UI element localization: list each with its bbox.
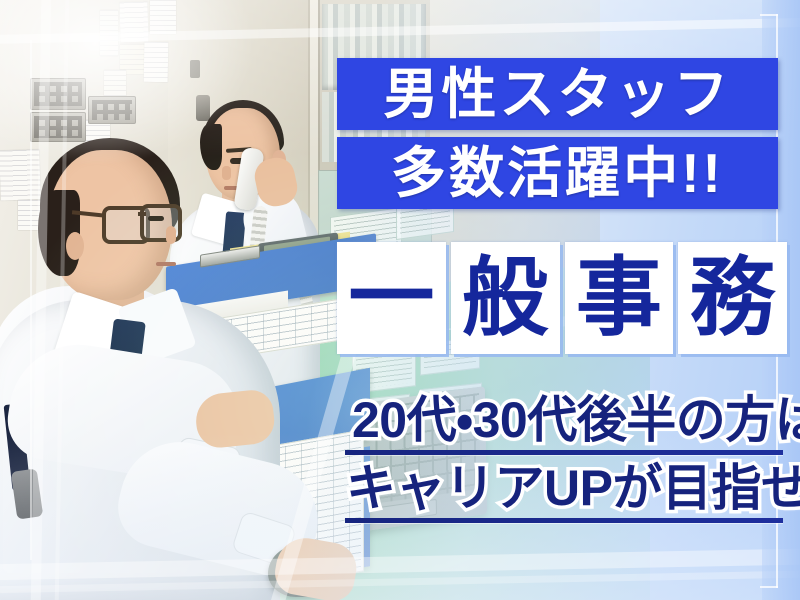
headline-kanji-box: 事	[565, 242, 674, 354]
recruitment-banner: 男性スタッフ 多数活躍中!! 一 般 事 務 20代・30代後半の方は キャリア…	[0, 0, 800, 600]
subline-bottom-rule	[345, 518, 783, 523]
ribbon-male-staff: 男性スタッフ	[337, 58, 778, 130]
headline-kanji-char: 事	[576, 255, 662, 341]
subline-age-range: 20代・30代後半の方は	[352, 390, 792, 450]
headline-kanji-box: 一	[337, 242, 446, 354]
subline-career-up: キャリアUPが目指せます	[346, 458, 794, 518]
headline-kanji-row: 一 般 事 務	[337, 242, 787, 354]
headline-kanji-char: 務	[690, 255, 776, 341]
headline-kanji-char: 般	[462, 255, 548, 341]
headline-kanji-char: 一	[348, 255, 434, 341]
frame-border-line-left	[30, 40, 32, 560]
ribbon-male-staff-label: 男性スタッフ	[383, 67, 731, 122]
frame-border-line	[760, 586, 778, 588]
subline-divider-rule	[345, 450, 783, 455]
headline-kanji-box: 般	[451, 242, 560, 354]
ribbon-many-active-label: 多数活躍中!!	[391, 146, 724, 201]
ribbon-many-active: 多数活躍中!!	[337, 137, 778, 209]
headline-kanji-box: 務	[678, 242, 787, 354]
frame-border-line	[760, 14, 778, 16]
